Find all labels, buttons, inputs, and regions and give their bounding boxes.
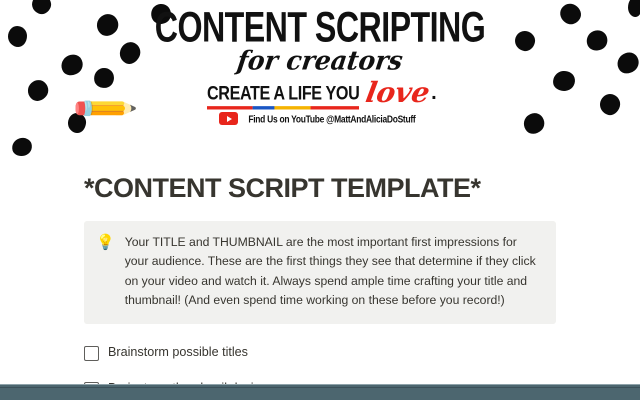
cover-banner: ✏️ CONTENT SCRIPTING for creators CREATE… xyxy=(0,0,640,160)
underline-segment xyxy=(253,106,274,109)
bottom-status-bar xyxy=(0,384,640,400)
lightbulb-icon: 💡 xyxy=(96,233,115,252)
underline-segment xyxy=(274,106,311,109)
tagline-main-text: CREATE A LIFE YOU xyxy=(207,83,359,109)
tagline-main-label: CREATE A LIFE YOU xyxy=(207,83,359,104)
notion-page: ✏️ CONTENT SCRIPTING for creators CREATE… xyxy=(0,0,640,400)
underline-segment xyxy=(207,106,253,109)
checkbox-unchecked-icon[interactable] xyxy=(84,346,99,361)
youtube-handle-row: Find Us on YouTube @MattAndAliciaDoStuff xyxy=(0,112,640,125)
cover-title: CONTENT SCRIPTING xyxy=(26,6,615,49)
page-body: *CONTENT SCRIPT TEMPLATE* 💡 Your TITLE a… xyxy=(0,160,640,400)
callout-block[interactable]: 💡 Your TITLE and THUMBNAIL are the most … xyxy=(84,221,556,324)
youtube-icon xyxy=(219,112,238,125)
tagline-underline-bars xyxy=(207,106,359,109)
tagline-accent-word: love xyxy=(364,82,431,104)
tagline-period: . xyxy=(431,82,437,105)
youtube-handle-label: Find Us on YouTube @MattAndAliciaDoStuff xyxy=(248,113,415,124)
page-title[interactable]: *CONTENT SCRIPT TEMPLATE* xyxy=(0,160,640,204)
todo-item[interactable]: Brainstorm possible titles xyxy=(0,341,640,364)
underline-segment xyxy=(311,106,360,109)
polka-dot-icon xyxy=(10,136,34,159)
callout-text: Your TITLE and THUMBNAIL are the most im… xyxy=(125,233,542,311)
cover-tagline: CREATE A LIFE YOU love . xyxy=(0,79,640,107)
bottom-bar-divider xyxy=(0,387,640,388)
cover-subtitle-script: for creators xyxy=(0,47,640,73)
cover-text-block: CONTENT SCRIPTING for creators CREATE A … xyxy=(0,0,640,125)
todo-item-label: Brainstorm possible titles xyxy=(108,344,248,361)
